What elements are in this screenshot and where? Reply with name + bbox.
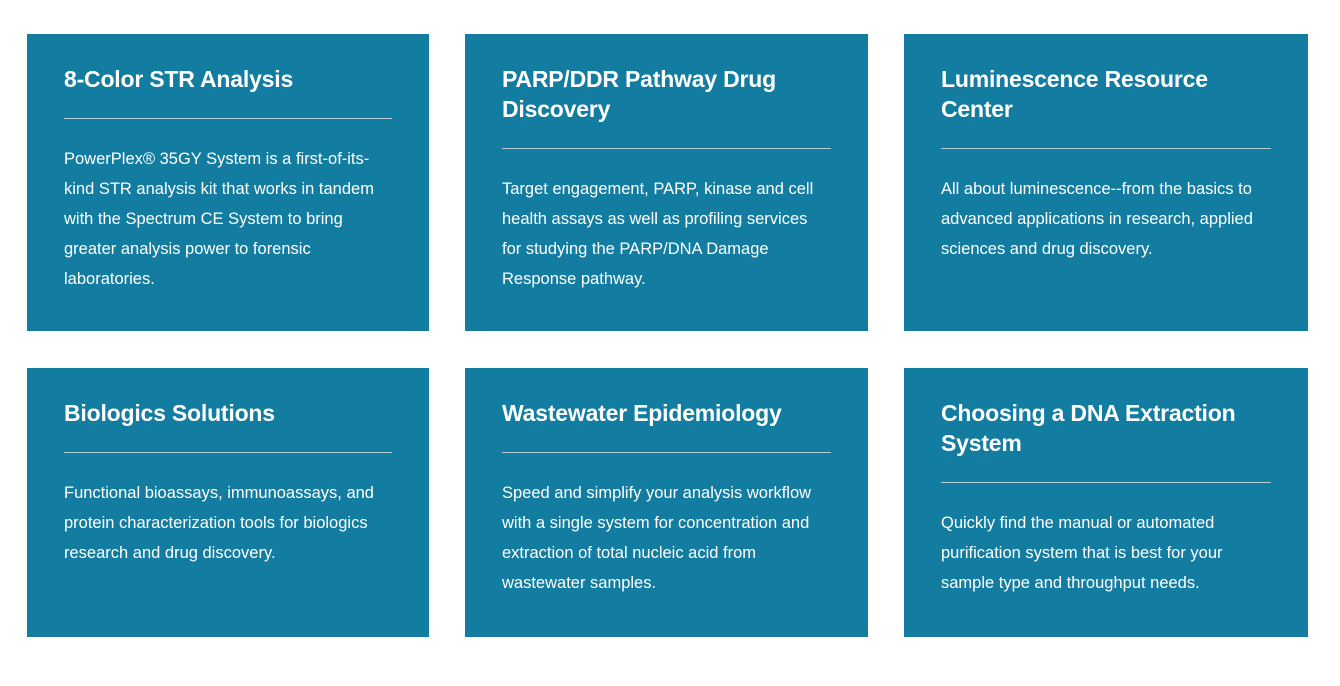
card-title: Luminescence Resource Center [941, 64, 1271, 124]
resource-card-wastewater-epidemiology[interactable]: Wastewater Epidemiology Speed and simpli… [465, 368, 868, 637]
card-title: PARP/DDR Pathway Drug Discovery [502, 64, 831, 124]
card-title: 8-Color STR Analysis [64, 64, 392, 94]
card-description: PowerPlex® 35GY System is a first-of-its… [64, 119, 392, 294]
resource-card-biologics-solutions[interactable]: Biologics Solutions Functional bioassays… [27, 368, 429, 637]
card-description: Quickly find the manual or automated pur… [941, 483, 1271, 598]
card-title: Biologics Solutions [64, 398, 392, 428]
resource-card-grid: 8-Color STR Analysis PowerPlex® 35GY Sys… [0, 0, 1340, 686]
resource-card-8-color-str-analysis[interactable]: 8-Color STR Analysis PowerPlex® 35GY Sys… [27, 34, 429, 331]
card-title: Wastewater Epidemiology [502, 398, 831, 428]
card-title: Choosing a DNA Extraction System [941, 398, 1271, 458]
card-description: All about luminescence--from the basics … [941, 149, 1271, 264]
card-description: Speed and simplify your analysis workflo… [502, 453, 831, 598]
card-description: Target engagement, PARP, kinase and cell… [502, 149, 831, 294]
card-description: Functional bioassays, immunoassays, and … [64, 453, 392, 568]
resource-card-luminescence-resource-center[interactable]: Luminescence Resource Center All about l… [904, 34, 1308, 331]
resource-card-choosing-a-dna-extraction-system[interactable]: Choosing a DNA Extraction System Quickly… [904, 368, 1308, 637]
resource-card-parp-ddr-pathway-drug-discovery[interactable]: PARP/DDR Pathway Drug Discovery Target e… [465, 34, 868, 331]
